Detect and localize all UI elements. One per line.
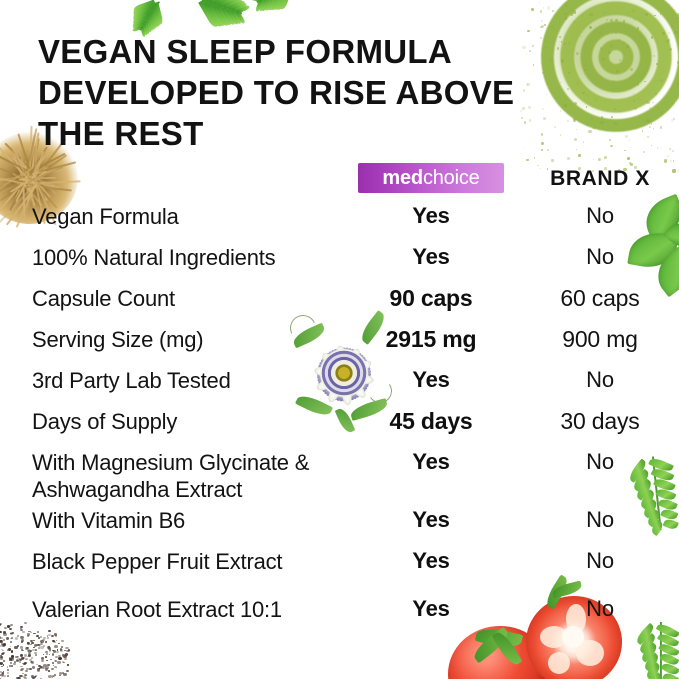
medchoice-value: Yes <box>350 244 512 270</box>
brandx-value: No <box>520 449 679 475</box>
table-row: With Magnesium Glycinate & Ashwagandha E… <box>0 449 679 507</box>
feature-label: Valerian Root Extract 10:1 <box>32 596 362 623</box>
table-header-row: medchoice BRAND X <box>0 155 679 203</box>
medchoice-value: 90 caps <box>350 285 512 312</box>
medchoice-value: Yes <box>350 203 512 229</box>
infographic-canvas: VEGAN SLEEP FORMULA DEVELOPED TO RISE AB… <box>0 0 679 679</box>
feature-label: Capsule Count <box>32 285 362 312</box>
medchoice-value: Yes <box>350 548 512 574</box>
medchoice-value: 45 days <box>350 408 512 435</box>
logo-bold-part: med <box>382 167 423 189</box>
medchoice-logo-text: medchoice <box>382 167 479 190</box>
medchoice-value: Yes <box>350 367 512 393</box>
brandx-value: No <box>520 507 679 533</box>
medchoice-value: 2915 mg <box>350 326 512 353</box>
comparison-table: medchoice BRAND X Vegan Formula Yes No 1… <box>0 155 679 637</box>
table-row: Valerian Root Extract 10:1 Yes No <box>0 596 679 637</box>
logo-light-part: choice <box>423 167 480 189</box>
brandx-value: No <box>520 203 679 229</box>
medchoice-logo-badge: medchoice <box>358 163 504 193</box>
brandx-value: 30 days <box>520 408 679 435</box>
feature-label: 3rd Party Lab Tested <box>32 367 362 394</box>
table-row: Vegan Formula Yes No <box>0 203 679 244</box>
table-row: Black Pepper Fruit Extract Yes No <box>0 548 679 596</box>
brandx-value: No <box>520 548 679 574</box>
brandx-column-header: BRAND X <box>520 167 679 191</box>
brandx-value: No <box>520 596 679 622</box>
feature-label: With Vitamin B6 <box>32 507 362 534</box>
medchoice-value: Yes <box>350 449 512 475</box>
medchoice-value: Yes <box>350 507 512 533</box>
table-row: With Vitamin B6 Yes No <box>0 507 679 548</box>
table-row: Capsule Count 90 caps 60 caps <box>0 285 679 326</box>
feature-label: Days of Supply <box>32 408 362 435</box>
brandx-value: 900 mg <box>520 326 679 353</box>
table-row: Serving Size (mg) 2915 mg 900 mg <box>0 326 679 367</box>
feature-label: 100% Natural Ingredients <box>32 244 362 271</box>
feature-label: Vegan Formula <box>32 203 362 230</box>
brandx-value: No <box>520 367 679 393</box>
table-row: Days of Supply 45 days 30 days <box>0 408 679 449</box>
page-title: VEGAN SLEEP FORMULA DEVELOPED TO RISE AB… <box>38 31 558 154</box>
feature-label: Serving Size (mg) <box>32 326 362 353</box>
feature-label: With Magnesium Glycinate & Ashwagandha E… <box>32 449 362 503</box>
feature-label: Black Pepper Fruit Extract <box>32 548 362 575</box>
table-row: 3rd Party Lab Tested Yes No <box>0 367 679 408</box>
brandx-value: 60 caps <box>520 285 679 312</box>
medchoice-value: Yes <box>350 596 512 622</box>
brandx-value: No <box>520 244 679 270</box>
table-row: 100% Natural Ingredients Yes No <box>0 244 679 285</box>
